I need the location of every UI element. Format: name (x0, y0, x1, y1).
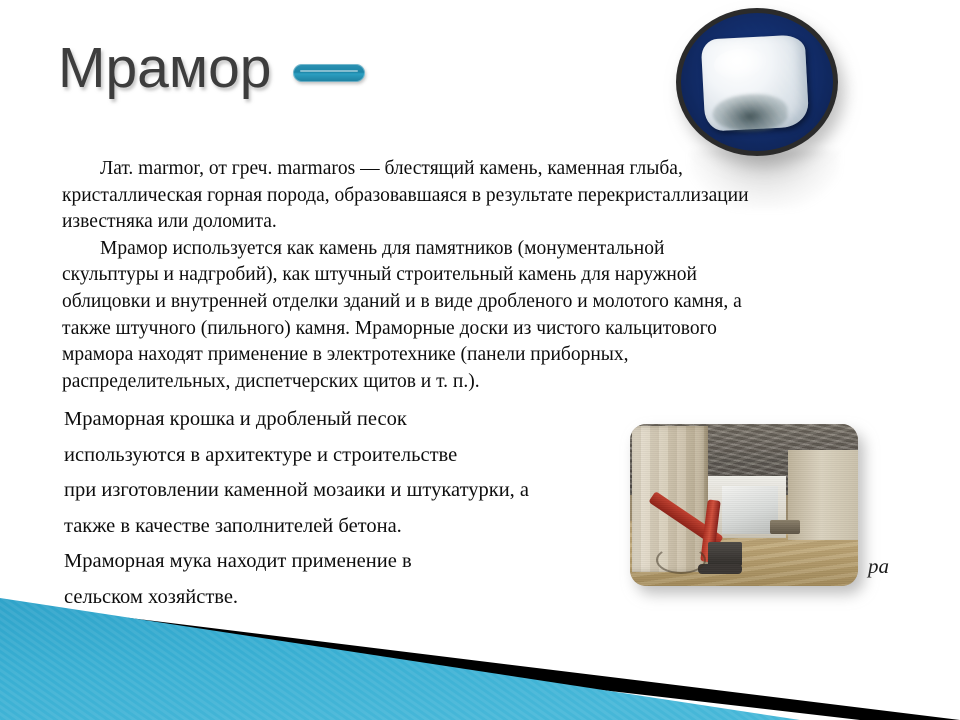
body-text-top: Лат. marmor, от греч. marmaros — блестящ… (62, 156, 762, 395)
slide-canvas: Мрамор Лат. marmor, от греч. marmaros — … (0, 0, 960, 720)
title-accent-dash-icon (293, 64, 365, 82)
deco-teal-weave (0, 598, 800, 720)
quarry-photo (630, 424, 858, 586)
title-block: Мрамор (58, 40, 365, 97)
body-line: также в качестве заполнителей бетона. (64, 509, 664, 545)
paragraph-usage: Мрамор используется как камень для памят… (62, 236, 762, 396)
tail-note-text: ра (868, 556, 889, 577)
quarry-machine (770, 520, 800, 534)
page-title: Мрамор (58, 40, 271, 97)
body-line: используются в архитектуре и строительст… (64, 438, 664, 474)
excavator-track (698, 564, 742, 574)
body-line: Мраморная крошка и дробленый песок (64, 402, 664, 438)
body-line: при изготовлении каменной мозаики и штук… (64, 473, 664, 509)
paragraph-definition: Лат. marmor, от греч. marmaros — блестящ… (62, 156, 762, 236)
excavator-cab (708, 542, 742, 566)
rock-photo (676, 8, 838, 156)
rock-photo-texture (681, 13, 833, 151)
body-line: Мраморная мука находит применение в (64, 544, 664, 580)
bottom-decoration (0, 580, 960, 720)
quarry-cable (656, 546, 706, 574)
